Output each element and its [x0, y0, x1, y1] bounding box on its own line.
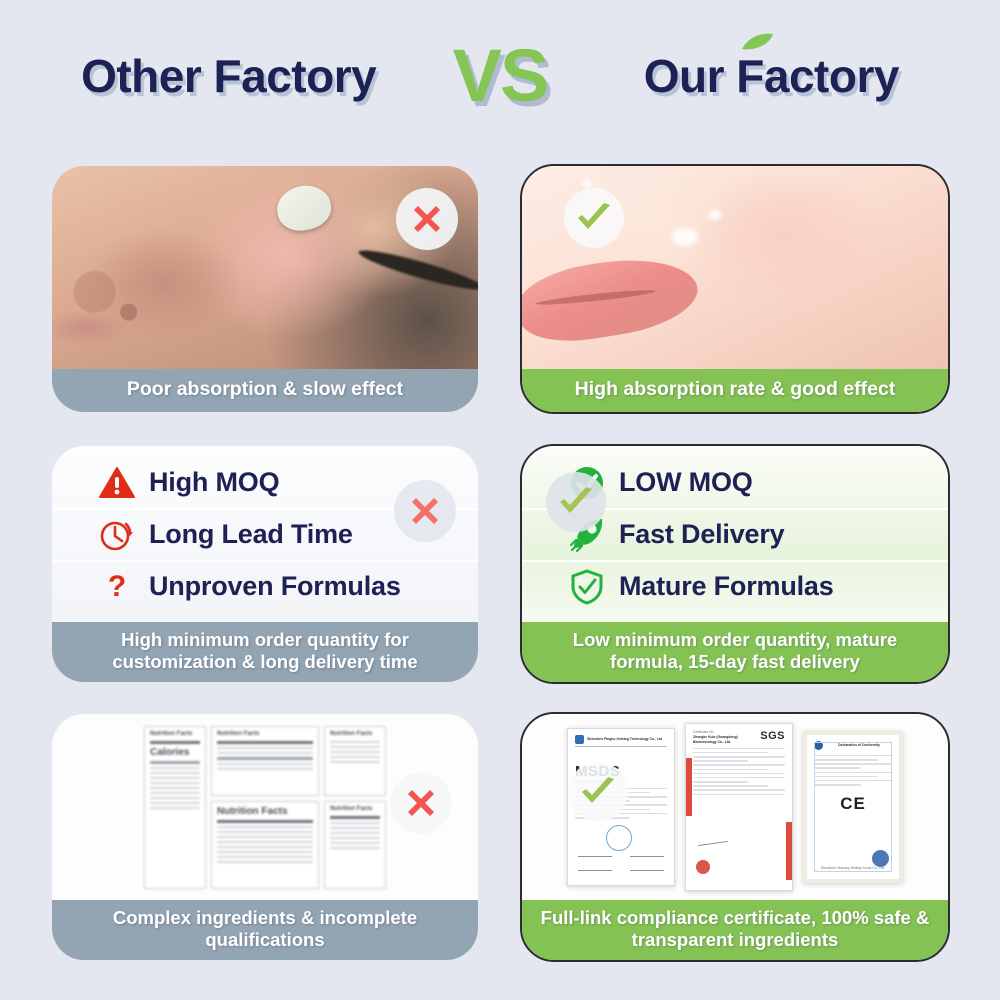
green-check-icon: [568, 762, 628, 822]
nutrition-label: Nutrition Facts Calories: [144, 726, 206, 889]
caption-bad-absorption: Poor absorption & slow effect: [52, 369, 478, 412]
blue-seal-icon: [872, 850, 889, 867]
caption-good-moq: Low minimum order quantity, mature formu…: [522, 622, 948, 682]
red-x-icon: [396, 188, 458, 250]
feature-label: Fast Delivery: [619, 519, 785, 550]
card-bad-documents: Nutrition Facts Calories Nutrition Facts: [50, 712, 480, 962]
certificate-title: SGS: [760, 730, 785, 742]
our-factory-text: Our Factory: [644, 50, 899, 102]
page-title-other-factory: Other Factory: [49, 49, 409, 103]
card-bad-absorption: Poor absorption & slow effect: [50, 164, 480, 414]
vs-label: VS: [453, 39, 548, 113]
caption-bad-documents: Complex ingredients & incomplete qualifi…: [52, 900, 478, 960]
feature-label: High MOQ: [149, 467, 279, 498]
nutrition-label-title: Nutrition Facts: [217, 731, 313, 738]
skin-highlight: [582, 180, 592, 188]
certificate-ce: Declaration of Conformity CE Shenzhen Hu…: [803, 731, 903, 883]
green-check-icon: [564, 188, 624, 248]
red-x-icon: [394, 480, 456, 542]
shield-check-icon: [568, 568, 606, 606]
nutrition-label: Nutrition Facts: [324, 801, 386, 889]
caption-bad-moq: High minimum order quantity for customiz…: [52, 622, 478, 682]
nutrition-label: Nutrition Facts: [211, 801, 319, 889]
feature-row-mature-formulas: Mature Formulas: [522, 560, 948, 612]
card-good-documents: Shenzhen Pinghu Xinhing Technology Co., …: [520, 712, 950, 962]
comparison-row-documents: Nutrition Facts Calories Nutrition Facts: [0, 712, 1000, 962]
caption-good-documents: Full-link compliance certificate, 100% s…: [522, 900, 948, 960]
company-logo-icon: [814, 741, 823, 750]
skin-highlight: [708, 210, 722, 220]
comparison-grid: Poor absorption & slow effect High absor…: [0, 152, 1000, 1000]
ce-mark: CE: [840, 794, 866, 813]
feature-list-bad: High MOQ Long Lead Time: [52, 446, 478, 622]
svg-text:?: ?: [108, 570, 126, 603]
feature-label: Mature Formulas: [619, 571, 834, 602]
nutrition-label-title: Nutrition Facts: [217, 806, 313, 818]
certificate-company: Zhongke Kule (Guangdong) Biotechnology C…: [693, 735, 755, 745]
feature-row-unproven-formulas: ? Unproven Formulas: [52, 560, 478, 612]
media-glowing-skin: [522, 166, 948, 369]
question-mark-icon: ?: [98, 568, 136, 606]
leaf-icon: [740, 33, 774, 51]
comparison-header: Other Factory VS Our Factory: [0, 0, 1000, 152]
media-dull-skin: [52, 166, 478, 369]
company-logo-icon: [575, 735, 584, 744]
caption-good-absorption: High absorption rate & good effect: [522, 369, 948, 412]
card-good-moq: LOW MOQ Fast Delivery: [520, 444, 950, 684]
feature-label: Unproven Formulas: [149, 571, 401, 602]
warning-triangle-icon: [98, 464, 136, 502]
media-certificates: Shenzhen Pinghu Xinhing Technology Co., …: [522, 714, 948, 900]
card-bad-moq: High MOQ Long Lead Time: [50, 444, 480, 684]
certificate-sgs: Certificate No. Zhongke Kule (Guangdong)…: [685, 723, 793, 891]
round-stamp: [606, 825, 632, 851]
card-good-absorption: High absorption rate & good effect: [520, 164, 950, 414]
certificate-header: Shenzhen Pinghu Xinhing Technology Co., …: [587, 737, 662, 742]
page-title-our-factory: Our Factory: [591, 49, 951, 103]
nutrition-label-title: Nutrition Facts: [150, 731, 200, 738]
certificate-subtitle: Declaration of Conformity: [826, 743, 892, 748]
skin-highlight: [672, 228, 698, 246]
feature-label: Long Lead Time: [149, 519, 353, 550]
feature-list-good: LOW MOQ Fast Delivery: [522, 446, 948, 622]
comparison-row-moq: High MOQ Long Lead Time: [0, 444, 1000, 684]
nutrition-label: Nutrition Facts: [211, 726, 319, 796]
red-x-icon: [390, 772, 452, 834]
feature-label: LOW MOQ: [619, 467, 753, 498]
clock-arrow-icon: [98, 516, 136, 554]
nutrition-label-title: Nutrition Facts: [330, 731, 380, 738]
nutrition-label: Nutrition Facts: [324, 726, 386, 796]
green-check-icon: [546, 472, 606, 532]
media-nutrition-labels: Nutrition Facts Calories Nutrition Facts: [52, 714, 478, 900]
red-seal-icon: [696, 860, 710, 874]
nutrition-label-title: Nutrition Facts: [330, 806, 380, 813]
comparison-row-absorption: Poor absorption & slow effect High absor…: [0, 164, 1000, 414]
